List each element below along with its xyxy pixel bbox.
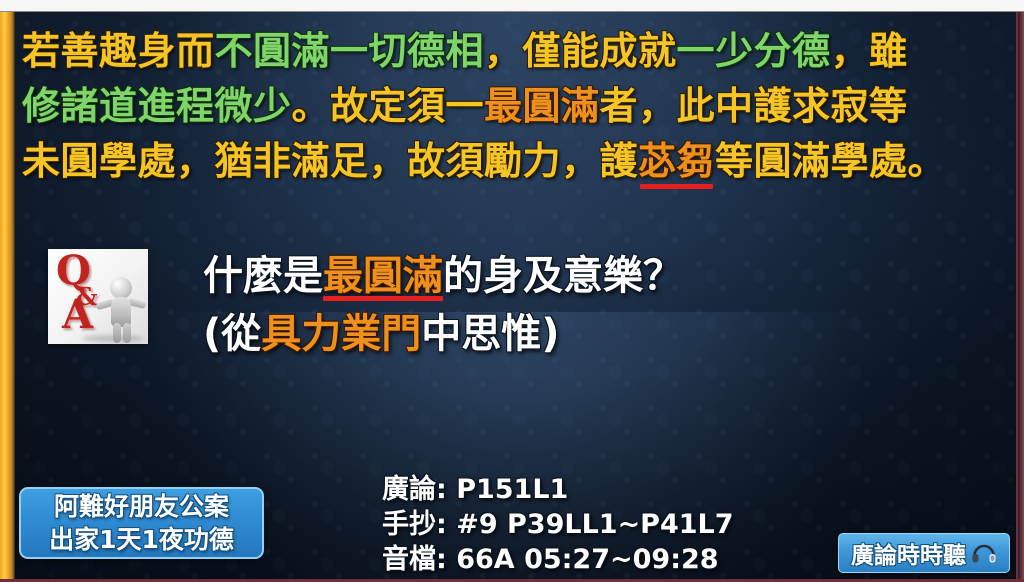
question-seg: 的身及意樂？	[443, 253, 683, 299]
brand-badge[interactable]: 廣論時時聽	[838, 533, 1010, 573]
scripture-seg-highlight: 修諸道進程微少	[22, 84, 292, 128]
question-block: 什麼是最圓滿的身及意樂？ (從具力業門中思惟)	[203, 247, 683, 363]
scripture-seg: 若善趣身而	[22, 29, 215, 73]
brand-label: 廣論時時聽	[851, 536, 966, 570]
top-white-strip	[0, 0, 1024, 12]
qa-figure-leg-left	[113, 323, 121, 343]
headphones-icon	[971, 542, 997, 564]
qa-letters: Q & A	[54, 253, 110, 339]
scripture-seg-underlined: 苾芻	[638, 139, 715, 183]
qa-figure-head	[110, 277, 132, 299]
scripture-seg: ，僅能成就	[484, 29, 677, 73]
qa-figure-leg-right	[123, 323, 131, 343]
right-border	[1018, 10, 1024, 582]
scripture-seg: 。故定須一	[292, 84, 485, 128]
left-gold-border	[0, 10, 15, 582]
question-line-1: 什麼是最圓滿的身及意樂？	[203, 247, 683, 305]
scripture-seg: 等圓滿學處。	[715, 139, 946, 183]
case-study-line-2: 出家1天1夜功德	[49, 523, 234, 556]
qa-letter-ampersand: &	[76, 279, 96, 315]
scripture-seg: 未圓學處，猶非滿足，故須勵力，護	[22, 139, 638, 183]
scripture-seg-highlight: 一少分德	[677, 29, 831, 73]
scripture-seg: ，雖	[831, 29, 908, 73]
reference-audio: 音檔: 66A 05:27~09:28	[382, 542, 734, 577]
scripture-line-3: 未圓學處，猶非滿足，故須勵力，護苾芻等圓滿學處。	[22, 134, 1020, 189]
question-seg-underlined: 最圓滿	[323, 253, 443, 299]
scripture-paragraph: 若善趣身而不圓滿一切德相，僅能成就一少分德，雖 修諸道進程微少。故定須一最圓滿者…	[22, 24, 1020, 189]
question-seg: 什麼是	[203, 253, 323, 299]
scripture-seg-emphasis: 最圓滿	[484, 84, 600, 128]
reference-transcript: 手抄: #9 P39LL1~P41L7	[382, 507, 734, 542]
question-line-2: (從具力業門中思惟)	[203, 305, 683, 363]
question-seg-emphasis: 具力業門	[261, 311, 421, 357]
case-study-badge: 阿難好朋友公案 出家1天1夜功德	[19, 487, 264, 559]
reference-text-source: 廣論: P151L1	[382, 472, 734, 507]
scripture-line-2: 修諸道進程微少。故定須一最圓滿者，此中護求寂等	[22, 79, 1020, 134]
scripture-line-1: 若善趣身而不圓滿一切德相，僅能成就一少分德，雖	[22, 24, 1020, 79]
reference-block: 廣論: P151L1 手抄: #9 P39LL1~P41L7 音檔: 66A 0…	[382, 472, 734, 577]
scripture-seg: 者，此中護求寂等	[600, 84, 908, 128]
case-study-line-1: 阿難好朋友公案	[54, 490, 229, 523]
scripture-seg-highlight: 不圓滿一切德相	[215, 29, 485, 73]
question-seg: 中思惟)	[421, 311, 559, 357]
slide-canvas: 若善趣身而不圓滿一切德相，僅能成就一少分德，雖 修諸道進程微少。故定須一最圓滿者…	[0, 0, 1024, 582]
qa-icon: Q & A	[48, 249, 148, 344]
question-seg: (從	[203, 311, 261, 357]
